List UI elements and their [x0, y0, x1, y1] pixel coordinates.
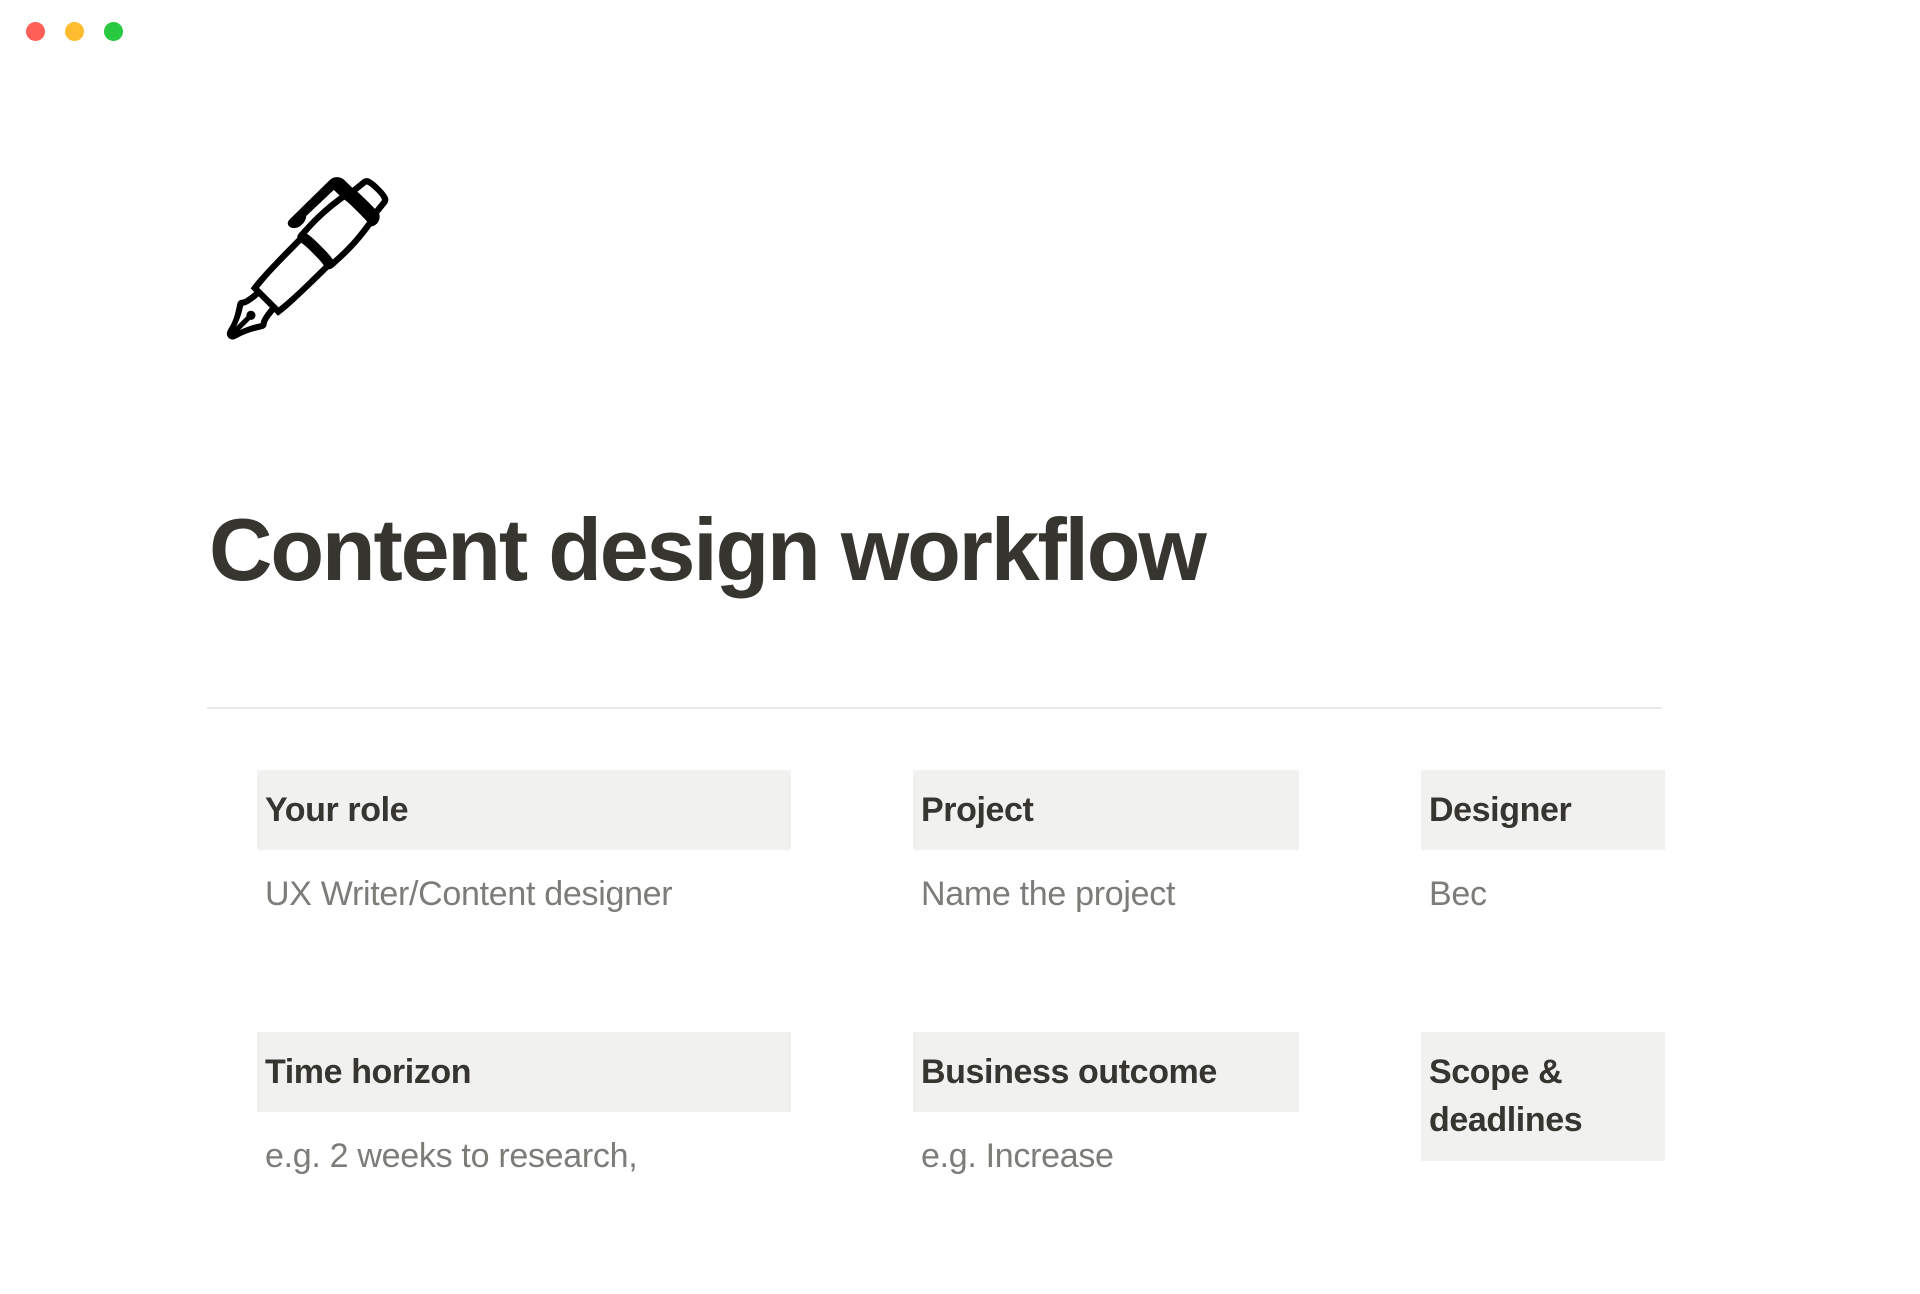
- property-cell-your-role: Your role UX Writer/Content designer: [257, 770, 791, 920]
- property-label[interactable]: Business outcome: [913, 1032, 1299, 1112]
- property-row: Time horizon e.g. 2 weeks to research, B…: [0, 1032, 1920, 1294]
- property-cell-designer: Designer Bec: [1421, 770, 1665, 920]
- property-value[interactable]: e.g. Increase: [913, 1112, 1299, 1181]
- property-value[interactable]: Name the project: [913, 850, 1299, 919]
- property-cell-scope-deadlines: Scope & deadlines: [1421, 1032, 1665, 1181]
- property-cell-project: Project Name the project: [913, 770, 1299, 920]
- property-grid: Your role UX Writer/Content designer Pro…: [0, 770, 1920, 1294]
- document-page: 🖋 Content design workflow Your role UX W…: [0, 0, 1920, 1200]
- property-label[interactable]: Project: [913, 770, 1299, 850]
- property-row: Your role UX Writer/Content designer Pro…: [0, 770, 1920, 1032]
- property-value[interactable]: Bec: [1421, 850, 1665, 919]
- fountain-pen-icon[interactable]: 🖋: [206, 158, 406, 358]
- page-title[interactable]: Content design workflow: [209, 499, 1709, 600]
- property-cell-business-outcome: Business outcome e.g. Increase: [913, 1032, 1299, 1182]
- property-value[interactable]: [1421, 1161, 1665, 1181]
- title-divider: [207, 707, 1662, 709]
- property-label[interactable]: Your role: [257, 770, 791, 850]
- property-label[interactable]: Designer: [1421, 770, 1665, 850]
- property-cell-time-horizon: Time horizon e.g. 2 weeks to research,: [257, 1032, 791, 1182]
- property-label[interactable]: Time horizon: [257, 1032, 791, 1112]
- property-value[interactable]: e.g. 2 weeks to research,: [257, 1112, 791, 1181]
- property-label[interactable]: Scope & deadlines: [1421, 1032, 1665, 1161]
- property-value[interactable]: UX Writer/Content designer: [257, 850, 791, 919]
